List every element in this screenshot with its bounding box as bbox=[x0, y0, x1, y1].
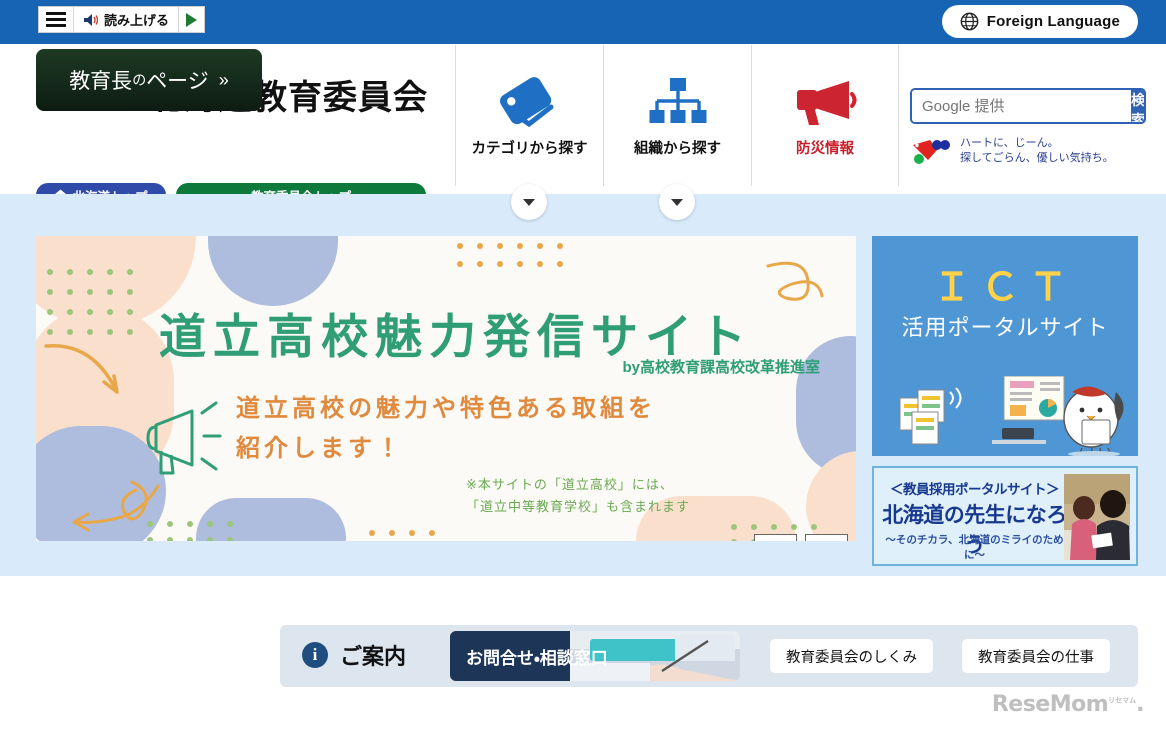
slide-note-line2: 「道立中等教育学校」も含まれます bbox=[466, 499, 690, 514]
search-input[interactable] bbox=[912, 90, 1131, 122]
pill-kyoikuiinkai-shigoto[interactable]: 教育委員会の仕事 bbox=[962, 639, 1110, 673]
header-nav-cells: カテゴリから探す 組織から探す bbox=[455, 45, 899, 186]
speaker-icon bbox=[83, 13, 100, 27]
megaphone-icon bbox=[789, 73, 861, 131]
contact-window-label: お問合せ・相談窓口 bbox=[466, 644, 608, 669]
banner-ict-subtitle: 活用ポータルサイト bbox=[872, 310, 1138, 342]
nav-cell-category[interactable]: カテゴリから探す bbox=[455, 45, 603, 186]
heart-ribbon-icon bbox=[910, 136, 952, 166]
hamburger-menu-button[interactable] bbox=[39, 7, 74, 32]
resemom-dot: . bbox=[1136, 692, 1144, 717]
page-root: 読み上げる Foreign Language bbox=[0, 0, 1166, 729]
heart-banner-text: ハートに、じーん。 探してごらん、優しい気持ち。 bbox=[960, 136, 1114, 166]
info-panel: i ご案内 お問合せ・相談窓口 教育委員会のしくみ 教育委員会の仕事 bbox=[280, 625, 1138, 687]
superintendent-page-button[interactable]: 教育長 の ページ » bbox=[36, 49, 262, 111]
superintendent-label-main: 教育長 bbox=[69, 65, 132, 95]
banner-teacher-line3: ～そのチカラ、北海道のミライのために～ bbox=[882, 532, 1067, 562]
tag-icon bbox=[495, 73, 565, 131]
carousel-slide[interactable]: 道立高校魅力発信サイト by高校教育課高校改革推進室 道立高校の魅力や特色ある取… bbox=[36, 236, 856, 541]
info-panel-title: ご案内 bbox=[340, 639, 406, 671]
nav-cell-disaster-label: 防災情報 bbox=[796, 137, 854, 158]
decor-dot-grid bbox=[454, 240, 574, 276]
slide-byline: by高校教育課高校改革推進室 bbox=[106, 356, 820, 377]
resemom-ruby: リセマム bbox=[1108, 697, 1136, 705]
play-triangle-icon bbox=[186, 13, 197, 27]
nav-cell-organization[interactable]: 組織から探す bbox=[603, 45, 751, 186]
nav-cell-category-label: カテゴリから探す bbox=[472, 137, 588, 158]
speech-toolbar: 読み上げる bbox=[38, 6, 205, 33]
classroom-photo bbox=[1064, 474, 1130, 560]
slide-note: ※本サイトの「道立高校」には、 「道立中等教育学校」も含まれます bbox=[466, 474, 796, 518]
banner-teacher-recruit[interactable]: ＜教員採用ポータルサイト＞ 北海道の先生になろう ～そのチカラ、北海道のミライの… bbox=[872, 466, 1138, 566]
top-utility-bar: 読み上げる Foreign Language bbox=[0, 0, 1166, 44]
search-button[interactable]: 検索 bbox=[1131, 90, 1145, 122]
info-circle-icon: i bbox=[302, 642, 328, 668]
chevron-down-icon bbox=[523, 199, 535, 206]
banner-teacher-line1: ＜教員採用ポータルサイト＞ bbox=[882, 478, 1067, 498]
search-box: 検索 bbox=[910, 88, 1146, 124]
chevron-right-icon: » bbox=[219, 70, 229, 91]
decor-blob bbox=[208, 236, 338, 306]
org-chart-icon bbox=[647, 73, 709, 131]
foreign-language-label: Foreign Language bbox=[987, 13, 1120, 30]
carousel-controls: 再生 停止 bbox=[754, 534, 848, 541]
megaphone-outline-icon bbox=[128, 391, 234, 483]
hamburger-menu-icon bbox=[46, 12, 66, 27]
ict-owl-projector-illustration bbox=[886, 376, 1136, 456]
resemom-brand: ReseMom bbox=[992, 692, 1108, 717]
nav-cell-disaster[interactable]: 防災情報 bbox=[751, 45, 899, 186]
read-aloud-label: 読み上げる bbox=[104, 10, 169, 29]
banner-ict-title: ＩＣＴ bbox=[872, 256, 1138, 311]
carousel-stop-button[interactable]: 停止 bbox=[805, 534, 848, 541]
contact-window-button[interactable]: お問合せ・相談窓口 bbox=[450, 631, 740, 681]
dropdown-toggle-category[interactable] bbox=[511, 184, 547, 220]
resemom-watermark: ReseMomリセマム. bbox=[992, 692, 1144, 717]
heart-banner-line1: ハートに、じーん。 bbox=[960, 137, 1059, 149]
globe-icon bbox=[960, 12, 979, 31]
pill-kyoikuiinkai-shikumi[interactable]: 教育委員会のしくみ bbox=[770, 639, 933, 673]
heart-banner-line2: 探してごらん、優しい気持ち。 bbox=[960, 152, 1114, 164]
search-area: 検索 ハートに、じーん。 探してごらん、優しい気持ち。 bbox=[910, 88, 1146, 166]
superintendent-label-particle: の bbox=[132, 70, 146, 90]
play-speech-button[interactable] bbox=[179, 7, 204, 32]
foreign-language-button[interactable]: Foreign Language bbox=[942, 5, 1138, 38]
carousel-play-button[interactable]: 再生 bbox=[754, 534, 797, 541]
heart-banner[interactable]: ハートに、じーん。 探してごらん、優しい気持ち。 bbox=[910, 136, 1146, 166]
slide-subtitle-line1: 道立高校の魅力や特色ある取組を bbox=[236, 388, 796, 423]
slide-note-line1: ※本サイトの「道立高校」には、 bbox=[466, 477, 674, 492]
chevron-down-icon bbox=[671, 199, 683, 206]
read-aloud-button[interactable]: 読み上げる bbox=[74, 7, 179, 32]
banner-ict-portal[interactable]: ＩＣＴ 活用ポータルサイト bbox=[872, 236, 1138, 456]
decor-dot-grid bbox=[366, 528, 526, 541]
info-panel-header: i ご案内 bbox=[302, 639, 406, 671]
decor-swirl bbox=[58, 476, 168, 541]
slide-subtitle-line2: 紹介します！ bbox=[236, 428, 796, 463]
dropdown-toggle-organization[interactable] bbox=[659, 184, 695, 220]
nav-cell-organization-label: 組織から探す bbox=[634, 137, 721, 158]
superintendent-label-tail: ページ bbox=[146, 65, 209, 95]
